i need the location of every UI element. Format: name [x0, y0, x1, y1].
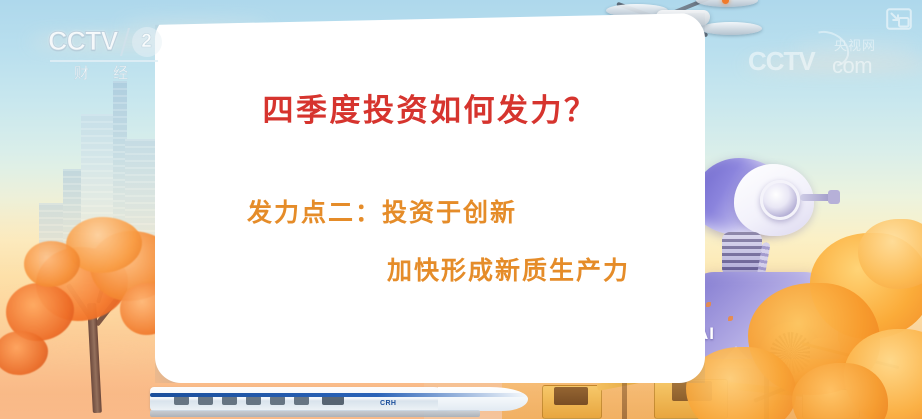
channel-subtitle: 财 经 — [74, 62, 138, 83]
falling-leaf — [706, 302, 711, 307]
cctv-com-watermark: CCTV 央视网 com — [748, 36, 908, 78]
falling-leaf — [728, 316, 733, 321]
picture-in-picture-icon[interactable] — [886, 8, 912, 30]
train-livery-stripe — [150, 393, 528, 397]
card-bullet-line-1: 发力点二：投资于创新 — [247, 193, 517, 229]
train-marking: CRH — [380, 400, 396, 407]
train-window — [270, 396, 285, 405]
high-speed-train: CRH — [150, 377, 510, 419]
train-window — [198, 396, 213, 405]
content-card: 四季度投资如何发力？ 发力点二：投资于创新 加快形成新质生产力 — [155, 13, 705, 383]
channel-brand-text: CCTV — [48, 26, 118, 57]
train-window — [174, 396, 189, 405]
broadcast-screen: AI — [0, 0, 922, 419]
watermark-chinese-text: 央视网 — [834, 35, 876, 54]
machinery-window — [554, 387, 588, 405]
train-skirt — [150, 410, 480, 417]
train-window — [222, 396, 237, 405]
robot-antenna-tip — [828, 190, 840, 204]
machinery-mast — [622, 379, 627, 419]
watermark-domain-text: com — [832, 53, 872, 79]
train-nose — [438, 387, 528, 411]
card-bullet-line-2: 加快形成新质生产力 — [387, 251, 630, 287]
leaf-cluster — [0, 331, 48, 375]
card-title: 四季度投资如何发力？ — [155, 85, 705, 130]
watermark-brand-text: CCTV — [748, 46, 815, 77]
train-window — [246, 396, 261, 405]
cctv-2-logo: CCTV 2 财 经 — [48, 26, 178, 82]
channel-logo-divider — [119, 28, 129, 56]
drone-rotor — [700, 22, 762, 35]
channel-number: 2 — [132, 27, 162, 57]
train-window — [294, 396, 309, 405]
content-card-inner: 四季度投资如何发力？ 发力点二：投资于创新 加快形成新质生产力 — [155, 13, 705, 383]
channel-logo-row: CCTV 2 — [48, 26, 178, 57]
